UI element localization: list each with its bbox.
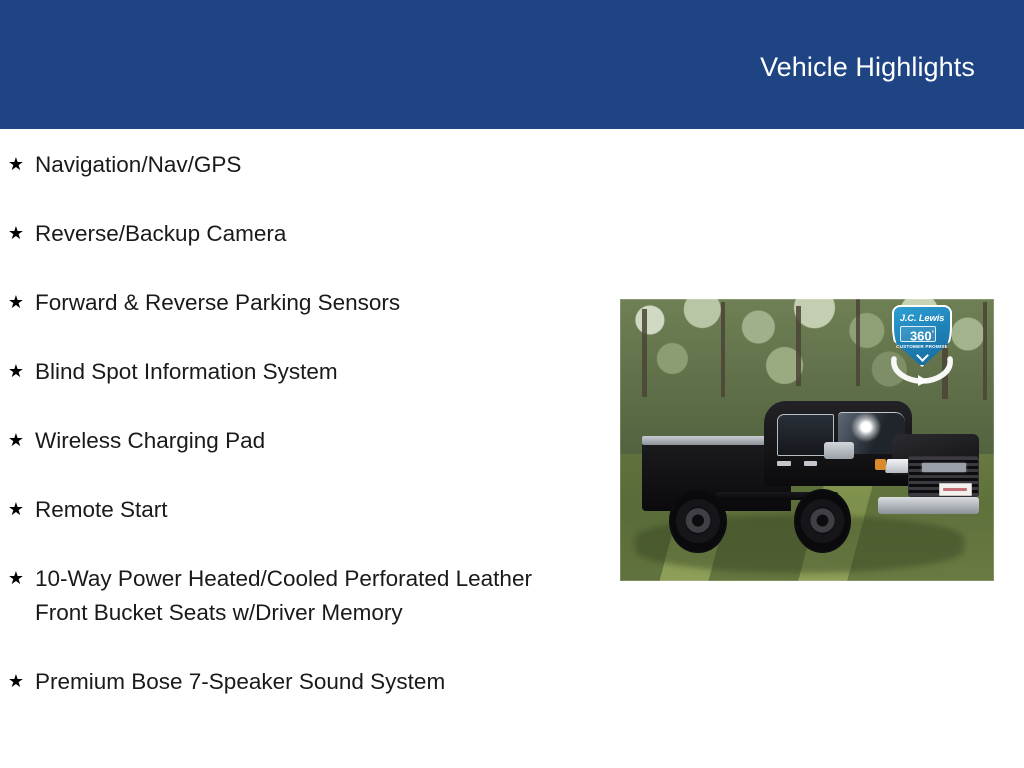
highlight-label: Remote Start xyxy=(32,493,552,527)
list-item: ★ Forward & Reverse Parking Sensors xyxy=(0,286,600,320)
list-item: ★ Navigation/Nav/GPS xyxy=(0,148,600,182)
list-item: ★ Reverse/Backup Camera xyxy=(0,217,600,251)
highlight-label: Reverse/Backup Camera xyxy=(32,217,552,251)
highlight-label: 10-Way Power Heated/Cooled Perforated Le… xyxy=(32,562,552,630)
front-wheel xyxy=(794,489,851,553)
sun-flare xyxy=(851,412,881,442)
highlight-label: Blind Spot Information System xyxy=(32,355,552,389)
star-icon: ★ xyxy=(0,665,32,699)
pickup-truck xyxy=(642,401,979,539)
rear-wheel xyxy=(669,489,726,553)
highlight-label: Navigation/Nav/GPS xyxy=(32,148,552,182)
list-item: ★ Remote Start xyxy=(0,493,600,527)
front-bumper xyxy=(878,497,979,514)
badge-number: 360° xyxy=(888,326,956,344)
tree-trunk xyxy=(856,299,860,386)
jc-lewis-360-badge[interactable]: J.C. Lewis 360° CUSTOMER PROMISE xyxy=(888,305,956,389)
star-icon: ★ xyxy=(0,562,32,596)
page-header: Vehicle Highlights xyxy=(0,0,1024,129)
door-handle xyxy=(804,461,817,466)
gmc-emblem xyxy=(922,463,966,473)
badge-number-value: 360 xyxy=(910,328,932,343)
door-handle xyxy=(777,461,790,466)
tree-trunk xyxy=(642,309,647,396)
tree-trunk xyxy=(796,306,801,386)
list-item: ★ Blind Spot Information System xyxy=(0,355,600,389)
license-plate xyxy=(939,483,973,495)
star-icon: ★ xyxy=(0,217,32,251)
list-item: ★ Wireless Charging Pad xyxy=(0,424,600,458)
highlight-label: Forward & Reverse Parking Sensors xyxy=(32,286,552,320)
page-title: Vehicle Highlights xyxy=(760,51,975,83)
star-icon: ★ xyxy=(0,148,32,182)
vehicle-photo[interactable]: J.C. Lewis 360° CUSTOMER PROMISE xyxy=(620,299,994,581)
vehicle-highlights-list: ★ Navigation/Nav/GPS ★ Reverse/Backup Ca… xyxy=(0,129,600,734)
star-icon: ★ xyxy=(0,355,32,389)
side-mirror xyxy=(824,442,854,459)
highlight-label: Premium Bose 7-Speaker Sound System xyxy=(32,665,552,699)
rotate-360-arrow-icon xyxy=(888,353,956,387)
list-item: ★ 10-Way Power Heated/Cooled Perforated … xyxy=(0,562,600,630)
vehicle-highlights-page: Vehicle Highlights ★ Navigation/Nav/GPS … xyxy=(0,0,1024,768)
badge-degree-symbol: ° xyxy=(932,331,934,337)
list-item: ★ Premium Bose 7-Speaker Sound System xyxy=(0,665,600,699)
highlight-label: Wireless Charging Pad xyxy=(32,424,552,458)
tree-trunk xyxy=(983,302,987,400)
star-icon: ★ xyxy=(0,493,32,527)
star-icon: ★ xyxy=(0,424,32,458)
tree-trunk xyxy=(721,302,725,396)
badge-brand-label: J.C. Lewis xyxy=(888,313,956,324)
star-icon: ★ xyxy=(0,286,32,320)
